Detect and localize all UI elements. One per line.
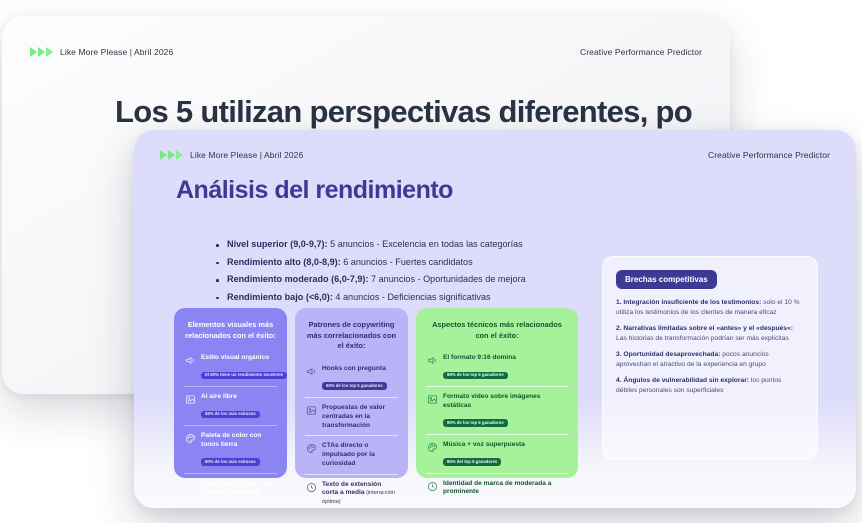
slide-stack: Like More Please | Abril 2026 Creative P… [0, 0, 862, 523]
image-icon [306, 405, 317, 416]
gap-label: 3. Oportunidad desaprovechada: [616, 351, 720, 358]
row-text: Superposición de texto mínima o moderad [201, 480, 276, 498]
row-body: Al aire libre 55% de los más exitosos [201, 393, 276, 420]
list-item: Música + voz superpuesta 80% del top 5 g… [426, 434, 568, 473]
clock-icon [306, 482, 317, 493]
row-body: Propuestas de valor centradas en la tran… [322, 404, 397, 430]
tier-detail: 4 anuncios - Deficiencias significativas [333, 292, 491, 302]
row-body: Identidad de marca de moderada a promine… [443, 480, 567, 498]
image-icon [427, 394, 438, 405]
gap-label: 4. Ángulos de vulnerabilidad sin explora… [616, 377, 749, 384]
stat-badge: 55% de los más exitosos [201, 411, 260, 419]
card-visual-elements[interactable]: Elementos visuales más relacionados con … [174, 308, 287, 478]
row-text: Formato video sobre imágenes estáticas [443, 393, 567, 411]
row-text: El formato 9:16 domina [443, 354, 567, 363]
row-body: Hooks con pregunta 60% de los top 5 gana… [322, 365, 397, 392]
stat-badge: 80% de los top 5 ganadores [443, 419, 508, 427]
tier-detail: 5 anuncios - Excelencia en todas las cat… [328, 239, 523, 249]
list-item: Rendimiento alto (8,0-8,9): 6 anuncios -… [216, 258, 646, 267]
card-technical-aspects[interactable]: Aspectos técnicos más relacionados con e… [416, 308, 578, 478]
row-body: Texto de extensión corta a media (intera… [322, 481, 397, 507]
brand-label: Like More Please | Abril 2026 [190, 150, 303, 160]
list-item: Texto de extensión corta a media (intera… [305, 474, 398, 508]
row-text: Paleta de color con tonos tierra [201, 432, 276, 450]
list-item: Superposición de texto mínima o moderad [184, 473, 277, 503]
stat-badge: 60% de los más exitosos [201, 458, 260, 466]
gaps-chip-label: Brechas competitivas [616, 270, 717, 289]
palette-icon [306, 443, 317, 454]
tier-label: Rendimiento alto (8,0-8,9): [227, 257, 341, 267]
row-text: Estilo visual orgánico [201, 354, 276, 363]
front-slide[interactable]: Like More Please | Abril 2026 Creative P… [134, 130, 856, 508]
row-body: Superposición de texto mínima o moderad [201, 480, 276, 498]
gap-label: 2. Narrativas limitadas sobre el «antes»… [616, 325, 793, 332]
list-item: Hooks con pregunta 60% de los top 5 gana… [305, 359, 398, 397]
tier-label: Nivel superior (9,0-9,7): [227, 239, 328, 249]
list-item: 1. Integración insuficiente de los testi… [616, 298, 804, 317]
insight-cards: Elementos visuales más relacionados con … [174, 308, 578, 478]
stat-badge: 80% del top 5 ganadores [443, 458, 501, 466]
brand-label: Like More Please | Abril 2026 [60, 47, 173, 57]
back-slide-title: Los 5 utilizan perspectivas diferentes, … [115, 92, 712, 132]
row-text: Música + voz superpuesta [443, 441, 567, 450]
card-copywriting-patterns[interactable]: Patrones de copywriting más correlaciona… [295, 308, 408, 478]
list-item: Propuestas de valor centradas en la tran… [305, 397, 398, 435]
logo-chevrons-icon [30, 47, 53, 57]
row-text: Propuestas de valor centradas en la tran… [322, 404, 397, 430]
brand: Like More Please | Abril 2026 [30, 47, 173, 57]
list-item: 3. Oportunidad desaprovechada: pocos anu… [616, 350, 804, 369]
list-item: CTAs directo o impulsado por la curiosid… [305, 435, 398, 473]
list-item: Estilo visual orgánico El 80% tiene un r… [184, 348, 277, 386]
list-item: Rendimiento bajo (<6,0): 4 anuncios - De… [216, 293, 646, 302]
stat-badge: 60% de los top 5 ganadores [322, 382, 387, 390]
list-item: Formato video sobre imágenes estáticas 8… [426, 386, 568, 434]
row-body: CTAs directo o impulsado por la curiosid… [322, 442, 397, 468]
stat-badge: El 80% tiene un rendimiento excelente [201, 372, 287, 380]
list-item: Paleta de color con tonos tierra 60% de … [184, 425, 277, 473]
row-text: Hooks con pregunta [322, 365, 397, 374]
tier-label: Rendimiento bajo (<6,0): [227, 292, 333, 302]
page-title: Análisis del rendimiento [176, 176, 453, 205]
performance-tier-list: Nivel superior (9,0-9,7): 5 anuncios - E… [176, 240, 646, 310]
row-text: Texto de extensión corta a media (intera… [322, 481, 397, 507]
brand: Like More Please | Abril 2026 [160, 150, 303, 160]
row-body: Formato video sobre imágenes estáticas 8… [443, 393, 567, 429]
back-header-right: Creative Performance Predictor [580, 47, 702, 57]
megaphone-icon [185, 355, 196, 366]
image-icon [185, 394, 196, 405]
tier-detail: 6 anuncios - Fuertes candidatos [341, 257, 473, 267]
row-text: Al aire libre [201, 393, 276, 402]
tier-detail: 7 anuncios - Oportunidades de mejora [368, 274, 525, 284]
list-item: Identidad de marca de moderada a promine… [426, 473, 568, 503]
row-text: Identidad de marca de moderada a promine… [443, 480, 567, 498]
tier-label: Rendimiento moderado (6,0-7,9): [227, 274, 368, 284]
list-item: 2. Narrativas limitadas sobre el «antes»… [616, 324, 804, 343]
palette-icon [427, 442, 438, 453]
back-slide-header: Like More Please | Abril 2026 Creative P… [30, 42, 702, 62]
megaphone-icon [306, 366, 317, 377]
clock-icon [185, 481, 196, 492]
card-title: Elementos visuales más relacionados con … [184, 320, 277, 341]
list-item: Rendimiento moderado (6,0-7,9): 7 anunci… [216, 275, 646, 284]
stat-badge: 88% de los top 5 ganadores [443, 372, 508, 380]
front-slide-header: Like More Please | Abril 2026 Creative P… [160, 146, 830, 164]
row-text: CTAs directo o impulsado por la curiosid… [322, 442, 397, 468]
card-title: Patrones de copywriting más correlaciona… [305, 320, 398, 352]
clock-icon [427, 481, 438, 492]
gap-detail: Las historias de transformación podrían … [616, 335, 789, 342]
logo-chevrons-icon [160, 150, 183, 160]
list-item: Nivel superior (9,0-9,7): 5 anuncios - E… [216, 240, 646, 249]
megaphone-icon [427, 355, 438, 366]
row-body: Música + voz superpuesta 80% del top 5 g… [443, 441, 567, 468]
row-body: Paleta de color con tonos tierra 60% de … [201, 432, 276, 468]
gap-label: 1. Integración insuficiente de los testi… [616, 299, 761, 306]
row-body: Estilo visual orgánico El 80% tiene un r… [201, 354, 276, 381]
palette-icon [185, 433, 196, 444]
front-header-right: Creative Performance Predictor [708, 150, 830, 160]
list-item: Al aire libre 55% de los más exitosos [184, 386, 277, 425]
row-body: El formato 9:16 domina 88% de los top 5 … [443, 354, 567, 381]
competitive-gaps-panel: Brechas competitivas 1. Integración insu… [602, 256, 818, 460]
list-item: 4. Ángulos de vulnerabilidad sin explora… [616, 376, 804, 395]
list-item: El formato 9:16 domina 88% de los top 5 … [426, 348, 568, 386]
card-title: Aspectos técnicos más relacionados con e… [426, 320, 568, 341]
